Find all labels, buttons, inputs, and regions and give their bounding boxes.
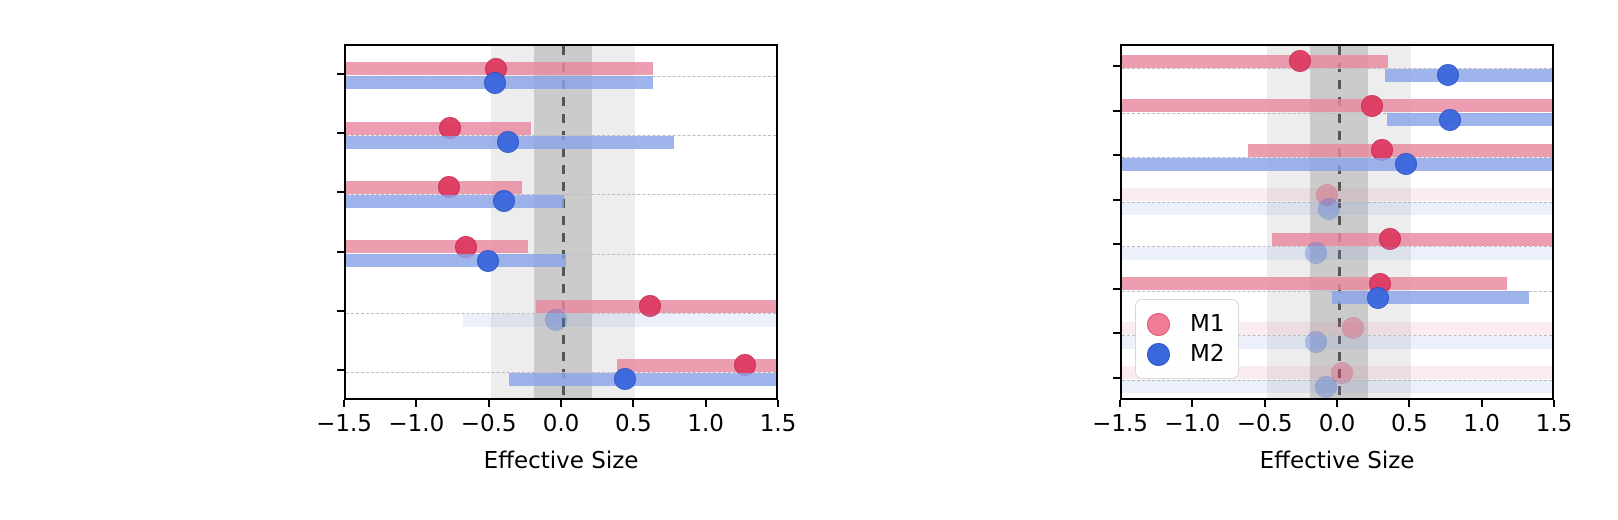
y-tick	[337, 310, 344, 312]
x-tick	[415, 400, 417, 407]
figure-root: ARC Challenge Acc.ARC Easy Acc.ARC Chall…	[0, 0, 1618, 520]
interval-bar-m2	[509, 373, 778, 386]
interval-bar-m2	[1122, 380, 1554, 393]
interval-bar-m1	[346, 240, 528, 253]
x-tick	[560, 400, 562, 407]
x-tick	[1408, 400, 1410, 407]
data-point-m2[interactable]	[477, 250, 499, 272]
x-tick	[343, 400, 345, 407]
y-tick	[1113, 377, 1120, 379]
interval-bar-m2	[1387, 113, 1554, 126]
data-point-m1[interactable]	[1361, 95, 1383, 117]
legend-label: M1	[1190, 311, 1224, 337]
interval-bar-m1	[1122, 99, 1554, 112]
x-tick	[705, 400, 707, 407]
data-point-m2[interactable]	[493, 190, 515, 212]
data-point-m2[interactable]	[1367, 287, 1389, 309]
data-point-m2[interactable]	[1315, 376, 1337, 398]
y-tick	[337, 191, 344, 193]
interval-bar-m2	[346, 195, 564, 208]
y-tick	[1113, 154, 1120, 156]
data-point-m2[interactable]	[497, 131, 519, 153]
legend-marker-m1-icon	[1147, 313, 1170, 336]
interval-bar-m2	[463, 314, 778, 327]
x-tick	[1481, 400, 1483, 407]
data-point-m2[interactable]	[1437, 64, 1459, 86]
data-point-m2[interactable]	[1305, 331, 1327, 353]
y-tick	[1113, 65, 1120, 67]
y-tick	[1113, 199, 1120, 201]
x-tick	[1336, 400, 1338, 407]
data-point-m2[interactable]	[1395, 153, 1417, 175]
y-tick	[1113, 110, 1120, 112]
x-tick	[1191, 400, 1193, 407]
interval-bar-m2	[1385, 69, 1554, 82]
zero-reference-line	[562, 46, 565, 398]
y-tick	[1113, 288, 1120, 290]
x-tick	[1119, 400, 1121, 407]
legend: M1M2	[1135, 299, 1239, 379]
data-point-m2[interactable]	[484, 72, 506, 94]
x-tick	[777, 400, 779, 407]
data-point-m2[interactable]	[1439, 109, 1461, 131]
legend-marker-m2-icon	[1147, 343, 1170, 366]
legend-label: M2	[1190, 341, 1224, 367]
interval-bar-m2	[1122, 158, 1554, 171]
x-tick	[1264, 400, 1266, 407]
data-point-m2[interactable]	[1305, 242, 1327, 264]
legend-item-m2[interactable]: M2	[1147, 339, 1224, 369]
data-point-m2[interactable]	[1318, 198, 1340, 220]
interval-bar-m2	[1332, 291, 1529, 304]
x-axis-label: Effective Size	[344, 448, 778, 474]
x-tick	[632, 400, 634, 407]
y-tick	[337, 251, 344, 253]
y-tick	[1113, 243, 1120, 245]
data-point-m2[interactable]	[545, 309, 567, 331]
plot-area-benchmarks	[344, 44, 778, 400]
x-tick	[1553, 400, 1555, 407]
interval-bar-m1	[1122, 277, 1507, 290]
x-tick-label: 1.5	[1509, 411, 1599, 437]
interval-bar-m2	[346, 254, 566, 267]
interval-bar-m1	[1122, 55, 1388, 68]
x-tick	[488, 400, 490, 407]
y-tick	[337, 132, 344, 134]
y-tick	[337, 73, 344, 75]
x-axis-label: Effective Size	[1120, 448, 1554, 474]
interval-bar-m2	[1122, 247, 1554, 260]
legend-item-m1[interactable]: M1	[1147, 309, 1224, 339]
y-tick	[337, 369, 344, 371]
x-tick-label: 1.5	[733, 411, 823, 437]
y-tick	[1113, 332, 1120, 334]
